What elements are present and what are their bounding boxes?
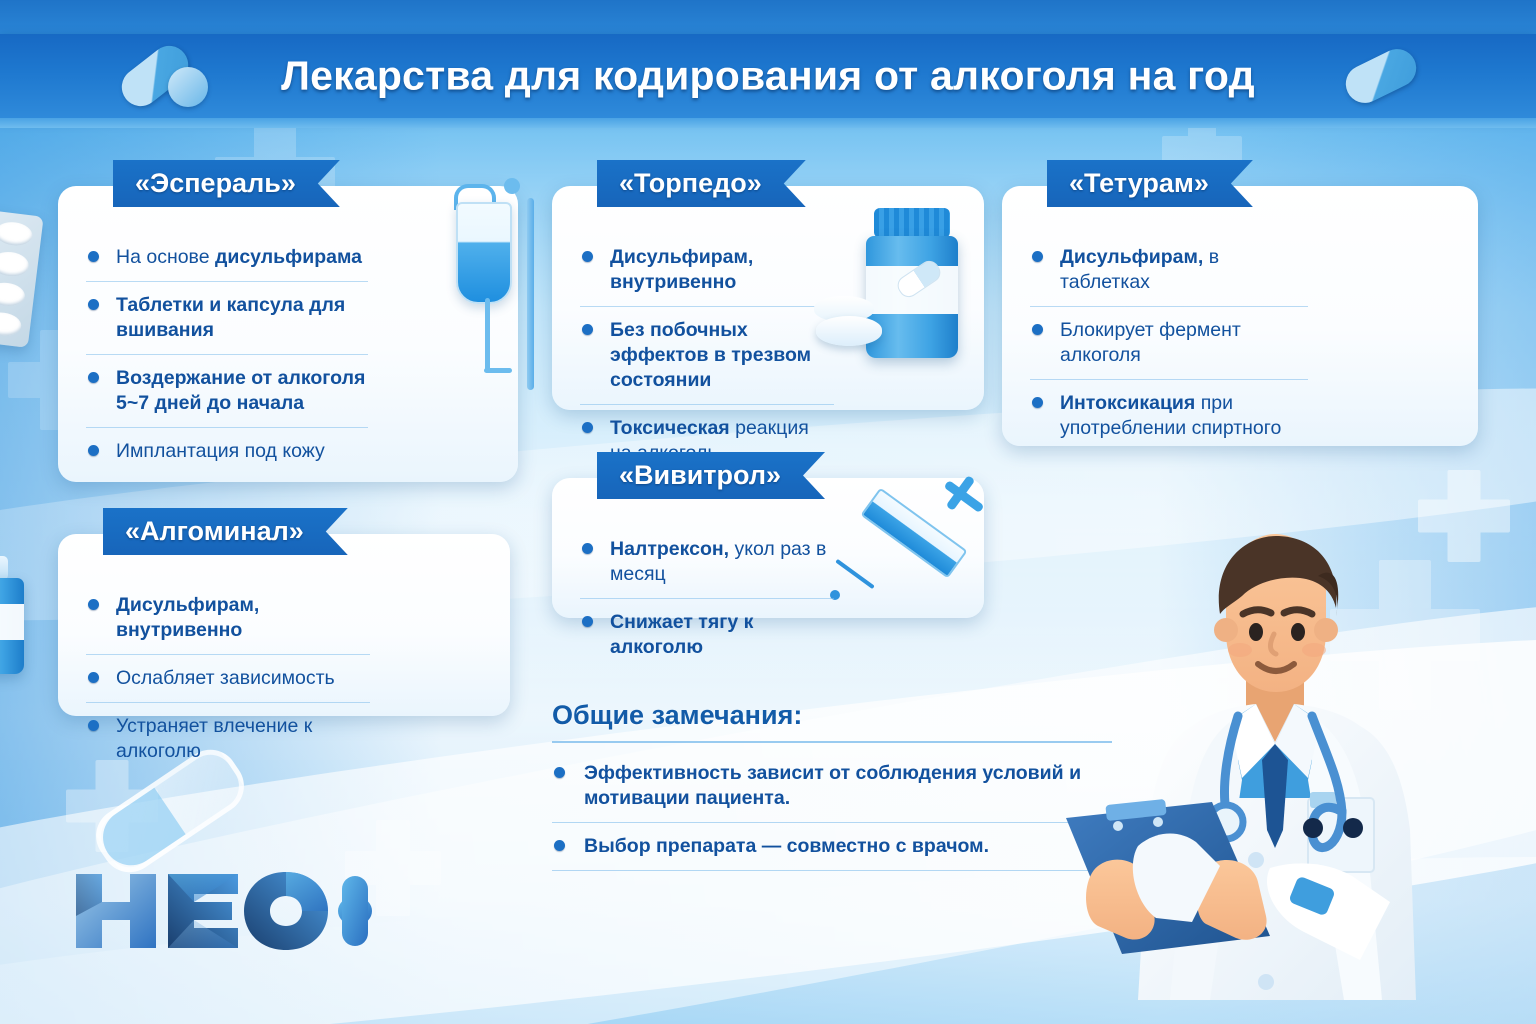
card-title-vivitrol: «Вивитрол» [597, 452, 825, 499]
list-item: Выбор препарата — совместно с врачом. [552, 822, 1112, 870]
brand-logo: НЕО + [72, 868, 372, 954]
infographic-canvas: Лекарства для кодирования от алкоголя на… [0, 0, 1536, 1024]
list-item: Без побочных эффектов в трезвом состояни… [580, 306, 834, 404]
card-title-teturam: «Тетурам» [1047, 160, 1253, 207]
card-title-torpedo: «Торпедо» [597, 160, 806, 207]
list-item: Таблетки и капсула для вшивания [86, 281, 368, 354]
notes-list: Эффективность зависит от соблюдения усло… [552, 743, 1112, 871]
card-items-vivitrol: Налтрексон, укол раз в месяц Снижает тяг… [580, 526, 834, 671]
list-item: Дисульфирам, внутривенно [86, 582, 370, 654]
card-items-teturam: Дисульфирам, в таблетках Блокирует ферме… [1030, 234, 1308, 452]
top-band [0, 0, 1536, 34]
bullet-icon [1032, 251, 1043, 262]
bullet-icon [88, 720, 99, 731]
bullet-icon [88, 599, 99, 610]
bullet-icon [554, 840, 565, 851]
card-teturam[interactable]: «Тетурам» Дисульфирам, в таблетках Блоки… [1002, 186, 1478, 446]
list-item: Эффективность зависит от соблюдения усло… [552, 743, 1112, 822]
card-items-esperal: На основе дисульфирама Таблетки и капсул… [86, 234, 368, 475]
list-item: Налтрексон, укол раз в месяц [580, 526, 834, 598]
page-header: Лекарства для кодирования от алкоголя на… [0, 34, 1536, 118]
list-item: Дисульфирам, в таблетках [1030, 234, 1308, 306]
bullet-icon [582, 616, 593, 627]
bullet-icon [88, 372, 99, 383]
card-title-esperal: «Эспераль» [113, 160, 340, 207]
bullet-icon [554, 767, 565, 778]
list-item: Воздержание от алкоголя 5~7 дней до нача… [86, 354, 368, 427]
bullet-icon [582, 543, 593, 554]
bullet-icon [1032, 324, 1043, 335]
notes-title: Общие замечания: [552, 700, 1112, 743]
list-item: На основе дисульфирама [86, 234, 368, 281]
general-notes-section: Общие замечания: Эффективность зависит о… [552, 700, 1112, 871]
list-item: Устраняет влечение к алкоголю [86, 702, 370, 775]
bullet-icon [88, 672, 99, 683]
bullet-icon [582, 324, 593, 335]
list-item: Ослабляет зависимость [86, 654, 370, 702]
bullet-icon [582, 251, 593, 262]
capsule-icon [1344, 57, 1418, 95]
card-title-algominal: «Алгоминал» [103, 508, 348, 555]
doctor-illustration [1060, 530, 1490, 1024]
list-item: Интоксикация при употреблении спиртного [1030, 379, 1308, 452]
page-title: Лекарства для кодирования от алкоголя на… [0, 53, 1536, 100]
syringe-icon [830, 472, 1000, 622]
card-algominal[interactable]: «Алгоминал» Дисульфирам, внутривенно Осл… [58, 534, 510, 716]
bullet-icon [582, 422, 593, 433]
list-item: Дисульфирам, внутривенно [580, 234, 834, 306]
card-items-torpedo: Дисульфирам, внутривенно Без побочных эф… [580, 234, 834, 477]
bullet-icon [88, 251, 99, 262]
list-item: Имплантация под кожу [86, 427, 368, 475]
bullet-icon [88, 445, 99, 456]
bullet-icon [1032, 397, 1043, 408]
list-item: Блокирует фермент алкоголя [1030, 306, 1308, 379]
card-vivitrol[interactable]: «Вивитрол» Налтрексон, укол раз в месяц … [552, 478, 984, 618]
bullet-icon [88, 299, 99, 310]
card-esperal[interactable]: «Эспераль» На основе дисульфирама Таблет… [58, 186, 518, 482]
list-item: Снижает тягу к алкоголю [580, 598, 834, 671]
card-items-algominal: Дисульфирам, внутривенно Ослабляет завис… [86, 582, 370, 775]
